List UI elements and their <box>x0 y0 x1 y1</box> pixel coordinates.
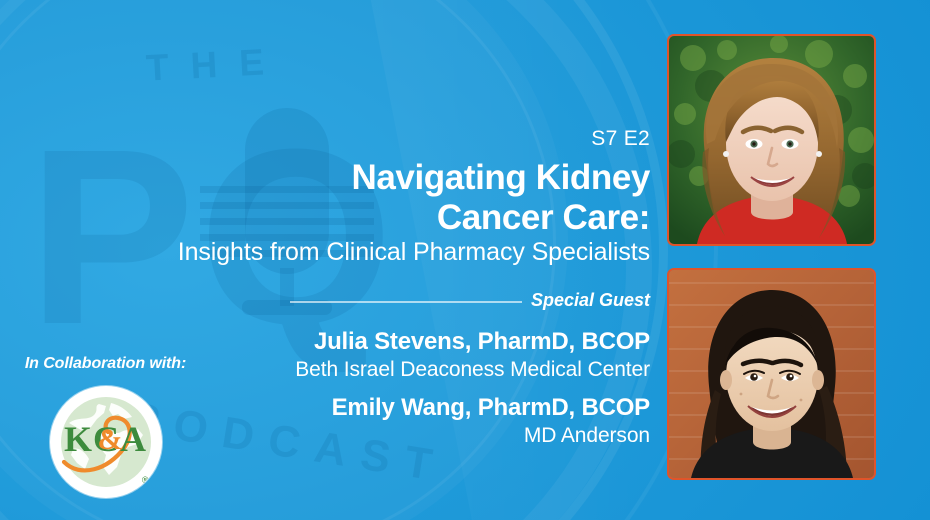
title-line-1: Navigating Kidney <box>0 158 650 198</box>
collaboration-block: In Collaboration with: KCA & ® <box>18 355 193 498</box>
page-subtitle: Insights from Clinical Pharmacy Speciali… <box>0 238 650 267</box>
registered-trademark-icon: ® <box>142 475 149 485</box>
page-title: Navigating Kidney Cancer Care: <box>0 158 650 238</box>
guest-name: Julia Stevens, PharmD, BCOP <box>0 328 650 357</box>
avatar <box>669 36 874 244</box>
title-line-2: Cancer Care: <box>0 198 650 238</box>
kca-logo-icon: KCA & ® <box>50 386 162 498</box>
podcast-episode-card: THE PQ PODCAST S7 E2 Navigating Kidney C… <box>0 0 930 520</box>
collaboration-label: In Collaboration with: <box>18 355 193 373</box>
kca-ampersand: & <box>98 423 123 457</box>
special-guest-label: Special Guest <box>0 290 650 311</box>
avatar <box>669 270 874 478</box>
guest-photo <box>667 268 876 480</box>
episode-number: S7 E2 <box>0 127 650 151</box>
guest-photo <box>667 34 876 246</box>
